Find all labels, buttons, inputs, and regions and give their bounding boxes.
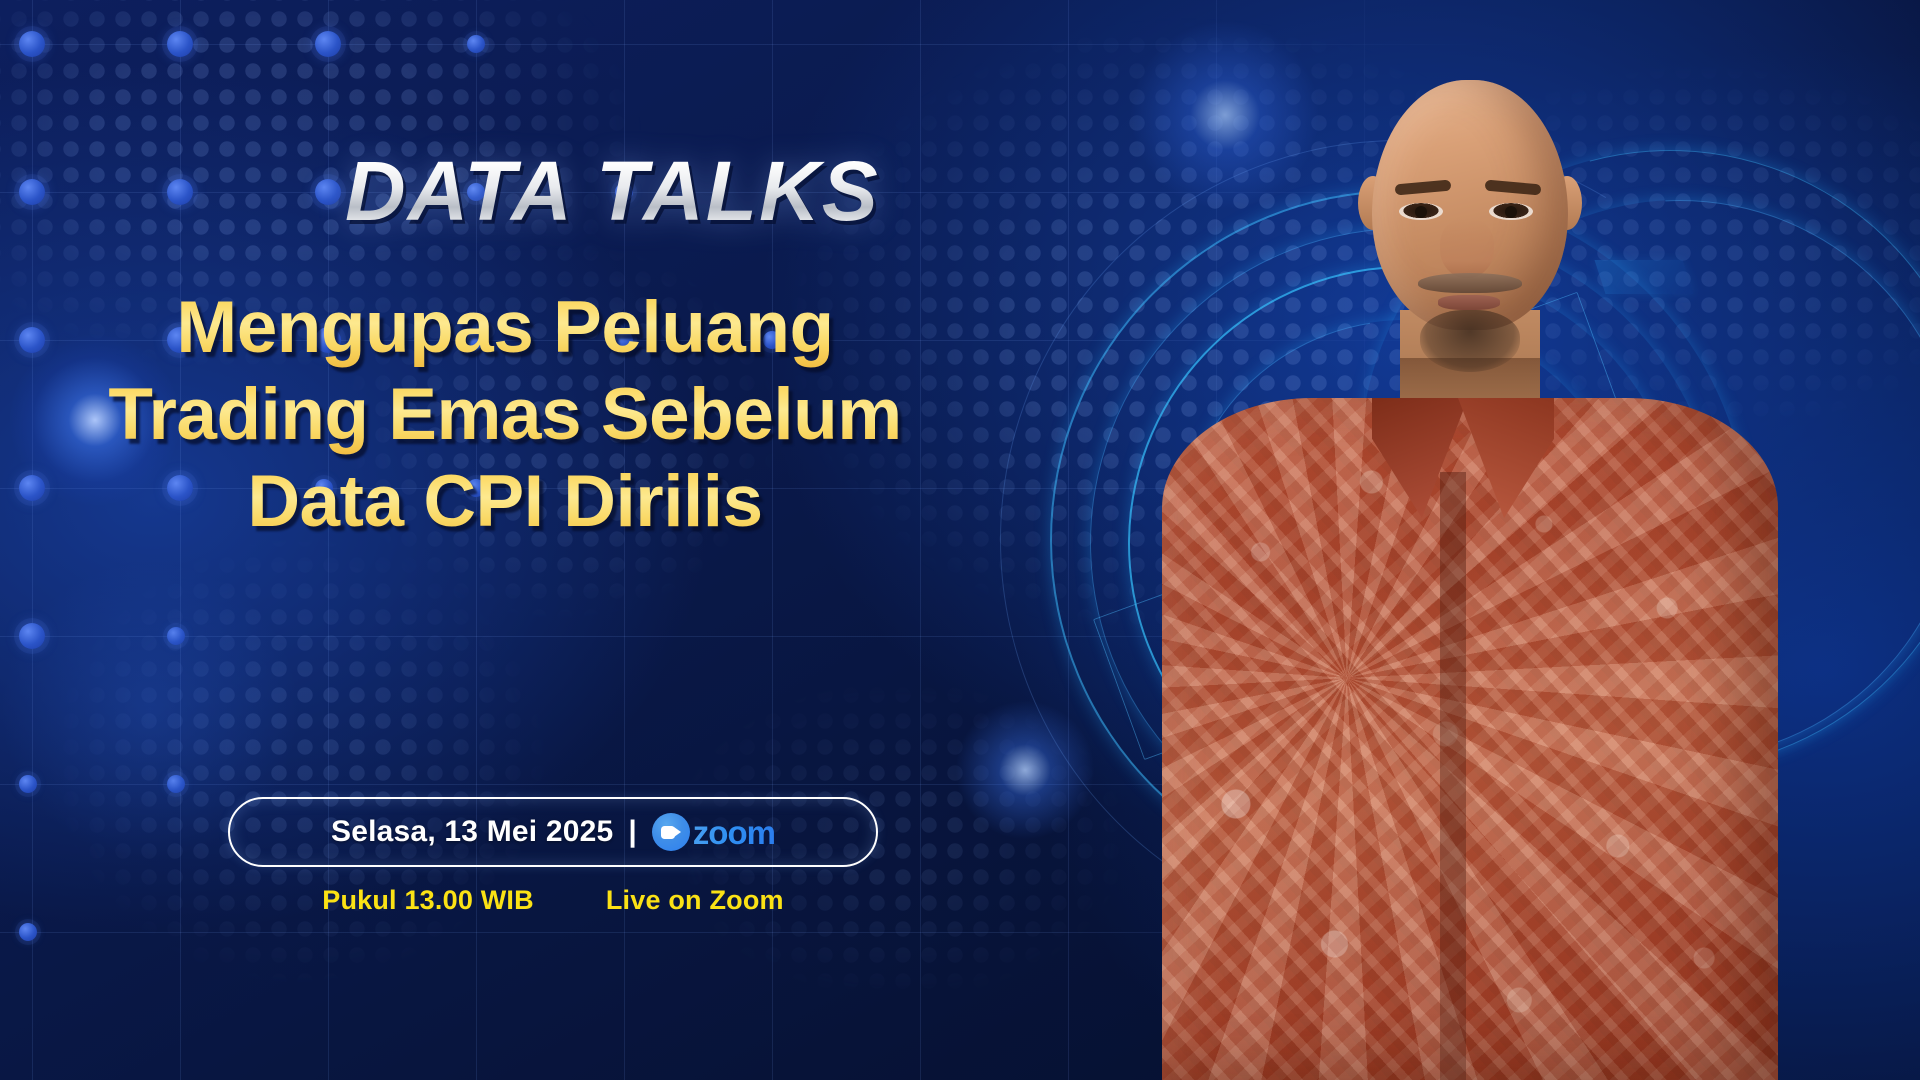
event-time: Pukul 13.00 WIB [322, 885, 534, 916]
program-title-kicker: DATA TALKS [345, 143, 880, 240]
speaker-portrait [1140, 72, 1800, 1080]
headline-block: Mengupas Peluang Trading Emas Sebelum Da… [0, 285, 1010, 546]
date-platform-pill[interactable]: Selasa, 13 Mei 2025 | zoom [228, 797, 878, 867]
goatee [1420, 310, 1520, 372]
batik-shirt-torso [1162, 398, 1778, 1080]
headline-line-3: Data CPI Dirilis [0, 459, 1010, 546]
speaker-visual-group [1060, 0, 1920, 1080]
nose [1440, 218, 1494, 278]
event-meta-row: Pukul 13.00 WIB Live on Zoom [228, 885, 878, 916]
event-platform: Live on Zoom [606, 885, 784, 916]
pill-divider: | [628, 815, 636, 849]
zoom-logo: zoom [652, 813, 775, 851]
pupil-right [1505, 206, 1517, 218]
webinar-promo-banner: DATA TALKS Mengupas Peluang Trading Emas… [0, 0, 1920, 1080]
headline-line-1: Mengupas Peluang [0, 285, 1010, 372]
video-camera-icon [652, 813, 690, 851]
mustache [1418, 273, 1522, 293]
shirt-placket [1440, 472, 1466, 1080]
event-date-text: Selasa, 13 Mei 2025 [331, 815, 613, 849]
zoom-wordmark: zoom [693, 814, 775, 852]
mouth [1438, 295, 1500, 310]
pupil-left [1415, 206, 1427, 218]
banner-text-content: DATA TALKS Mengupas Peluang Trading Emas… [0, 0, 1060, 1080]
headline-line-2: Trading Emas Sebelum [0, 372, 1010, 459]
